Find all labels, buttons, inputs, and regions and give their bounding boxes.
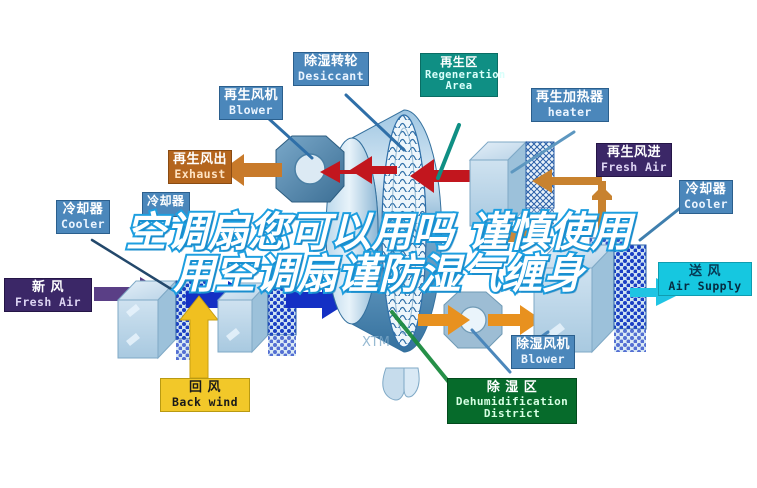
label-desiccant-wheel-cn: 除湿转轮	[298, 55, 364, 69]
label-cooler-mid: 冷却器	[142, 192, 190, 217]
label-air-supply-en: Air Supply	[663, 280, 747, 292]
label-cooler-left-cn: 冷却器	[61, 203, 105, 217]
label-desiccant-wheel-en: Desiccant	[298, 70, 364, 82]
label-dehumidification-zone-en: Dehumidification District	[452, 396, 572, 420]
label-back-wind-en: Back wind	[165, 396, 245, 408]
label-regeneration-exhaust-cn: 再生风出	[173, 153, 227, 167]
label-regeneration-exhaust-en: Exhaust	[173, 168, 227, 180]
label-dehumidifying-blower-cn: 除湿风机	[516, 338, 570, 352]
cooler-unit-left	[118, 281, 176, 358]
svg-text:XTM: XTM	[362, 335, 390, 350]
label-cooler-left: 冷却器 Cooler	[56, 200, 110, 234]
label-cooler-left-en: Cooler	[61, 218, 105, 230]
label-regeneration-inlet-en: Fresh Air	[601, 161, 667, 173]
label-regeneration-heater: 再生加热器 heater	[531, 88, 609, 122]
label-regeneration-blower: 再生风机 Blower	[219, 86, 283, 120]
label-back-wind-cn: 回 风	[165, 381, 245, 395]
label-dehumidification-zone: 除 湿 区 Dehumidification District	[447, 378, 577, 424]
label-cooler-right-cn: 冷却器	[684, 183, 728, 197]
label-regeneration-inlet-cn: 再生风进	[601, 146, 667, 160]
label-fresh-air-inlet-cn: 新 风	[9, 281, 87, 295]
label-fresh-air-inlet: 新 风 Fresh Air	[4, 278, 92, 312]
label-dehumidification-zone-cn: 除 湿 区	[452, 381, 572, 395]
label-regeneration-blower-cn: 再生风机	[224, 89, 278, 103]
label-dehumidifying-blower: 除湿风机 Blower	[511, 335, 575, 369]
label-air-supply-cn: 送 风	[663, 265, 747, 279]
label-fresh-air-inlet-en: Fresh Air	[9, 296, 87, 308]
label-cooler-right-en: Cooler	[684, 198, 728, 210]
label-cooler-mid-cn: 冷却器	[147, 195, 185, 208]
schematic-illustration: XTM	[0, 0, 757, 488]
label-regeneration-blower-en: Blower	[224, 104, 278, 116]
label-dehumidifying-blower-en: Blower	[516, 353, 570, 365]
label-regeneration-exhaust: 再生风出 Exhaust	[168, 150, 232, 184]
label-regeneration-heater-en: heater	[536, 106, 604, 118]
label-regeneration-heater-cn: 再生加热器	[536, 91, 604, 105]
label-cooler-right: 冷却器 Cooler	[679, 180, 733, 214]
label-desiccant-wheel: 除湿转轮 Desiccant	[293, 52, 369, 86]
diagram-canvas: XTM	[0, 0, 757, 488]
label-regeneration-area-cn: 再生区	[425, 56, 493, 69]
label-back-wind: 回 风 Back wind	[160, 378, 250, 412]
label-air-supply: 送 风 Air Supply	[658, 262, 752, 296]
label-regeneration-area: 再生区 Regeneration Area	[420, 53, 498, 97]
label-regeneration-area-en: Regeneration Area	[425, 70, 493, 93]
cooler-unit-mid	[218, 283, 268, 352]
label-regeneration-inlet: 再生风进 Fresh Air	[596, 143, 672, 177]
